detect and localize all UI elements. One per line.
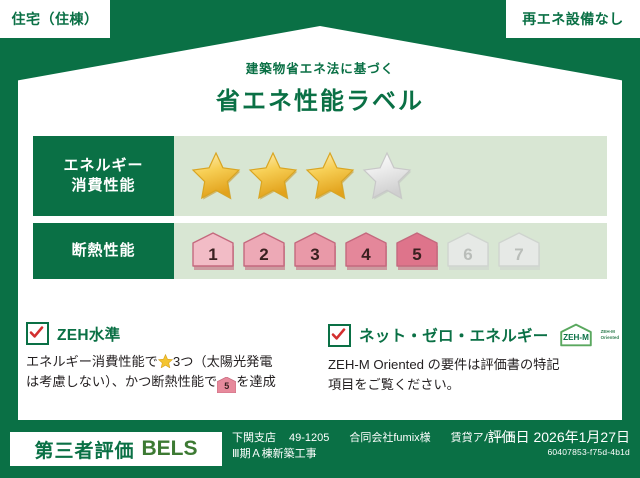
net-zero-body-line2: 項目をご覧ください。 bbox=[328, 377, 460, 392]
svg-text:ZEH-M: ZEH-M bbox=[563, 333, 589, 342]
footer-meta-line1: 下関支店49-1205合同会社fumix様賃貸アパート bbox=[232, 429, 516, 445]
title-block: 建築物省エネ法に基づく 省エネ性能ラベル bbox=[0, 58, 640, 116]
inline-chip-value: 5 bbox=[217, 377, 236, 396]
footer-meta: 下関支店49-1205合同会社fumix様賃貸アパート Ⅲ期Ａ棟新築工事 評価日… bbox=[232, 427, 640, 471]
footer-meta-line2: Ⅲ期Ａ棟新築工事 bbox=[232, 445, 317, 461]
energy-label-line1: エネルギー bbox=[63, 156, 143, 176]
net-zero-energy-header: ネット・ゼロ・エネルギー ZEH-M ZEH-M Oriented bbox=[328, 322, 616, 348]
title-subtitle: 建築物省エネ法に基づく bbox=[0, 58, 640, 77]
footer-number: 49-1205 bbox=[289, 432, 329, 444]
net-zero-energy-checkbox[interactable] bbox=[328, 324, 351, 347]
footer-date-value: 2026年1月27日 bbox=[533, 429, 630, 445]
insulation-chip-value: 3 bbox=[310, 245, 319, 271]
zeh-standard-body: エネルギー消費性能で 3つ（太陽光発電 は考慮しない）、かつ断熱性能で 5 を達… bbox=[26, 352, 314, 393]
check-icon bbox=[29, 325, 44, 340]
insulation-chip-inactive: 6 bbox=[445, 231, 491, 271]
insulation-chip-active: 4 bbox=[343, 231, 389, 271]
net-zero-energy-title: ネット・ゼロ・エネルギー bbox=[359, 324, 549, 346]
footer-bar: 第三者評価 BELS 下関支店49-1205合同会社fumix様賃貸アパート Ⅲ… bbox=[0, 420, 640, 478]
insulation-chip-value: 5 bbox=[412, 245, 421, 271]
energy-performance-row: エネルギー 消費性能 bbox=[33, 136, 607, 216]
building-type-tag-label: 住宅（住棟） bbox=[12, 9, 99, 29]
footer-evaluation-date: 評価日 2026年1月27日 bbox=[488, 427, 630, 447]
insulation-chip-active: 5 bbox=[394, 231, 440, 271]
renewable-energy-tag: 再エネ設備なし bbox=[506, 0, 640, 38]
performance-rows: エネルギー 消費性能 断熱性能 1234567 bbox=[33, 136, 607, 286]
inline-insulation-chip: 5 bbox=[217, 377, 236, 393]
star-filled-icon bbox=[247, 151, 299, 201]
zeh-body-part-b: 3つ（太陽光発電 bbox=[173, 354, 273, 369]
bels-logo-jp: 第三者評価 bbox=[34, 436, 134, 463]
insulation-level-scale: 1234567 bbox=[174, 223, 607, 279]
star-empty-icon bbox=[361, 151, 413, 201]
insulation-chip-value: 4 bbox=[361, 245, 370, 271]
star-rating bbox=[174, 136, 607, 216]
renewable-energy-tag-label: 再エネ設備なし bbox=[522, 9, 624, 29]
zeh-body-part-d: を達成 bbox=[236, 374, 276, 389]
zeh-standard-checkbox[interactable] bbox=[26, 322, 49, 345]
insulation-performance-label-cell: 断熱性能 bbox=[33, 223, 174, 279]
insulation-label: 断熱性能 bbox=[71, 241, 135, 261]
page-title: 省エネ性能ラベル bbox=[0, 81, 640, 116]
energy-label-line2: 消費性能 bbox=[71, 176, 135, 196]
bels-logo-en: BELS bbox=[142, 437, 198, 461]
zeh-m-caption-line1: ZEH-M bbox=[601, 329, 615, 334]
insulation-chip-active: 2 bbox=[241, 231, 287, 271]
insulation-chip-value: 6 bbox=[463, 245, 472, 271]
insulation-chip-inactive: 7 bbox=[496, 231, 542, 271]
star-filled-icon bbox=[304, 151, 356, 201]
criteria-section: ZEH水準 エネルギー消費性能で 3つ（太陽光発電 は考慮しない）、かつ断熱性能… bbox=[26, 322, 616, 396]
zeh-standard-header: ZEH水準 bbox=[26, 322, 314, 345]
inline-star-icon bbox=[158, 354, 173, 369]
net-zero-energy-body: ZEH-M Oriented の要件は評価書の特記 項目をご覧ください。 bbox=[328, 355, 616, 396]
insulation-chip-value: 1 bbox=[208, 245, 217, 271]
check-icon bbox=[331, 327, 346, 342]
zeh-m-logo-icon: ZEH-M bbox=[559, 322, 593, 348]
insulation-chip-value: 2 bbox=[259, 245, 268, 271]
footer-date-label: 評価日 bbox=[488, 429, 530, 445]
footer-project: Ⅲ期Ａ棟新築工事 bbox=[232, 448, 317, 460]
bels-logo: 第三者評価 BELS bbox=[10, 432, 222, 466]
insulation-performance-row: 断熱性能 1234567 bbox=[33, 223, 607, 279]
zeh-m-logo-caption: ZEH-M Oriented bbox=[601, 329, 620, 340]
net-zero-energy-block: ネット・ゼロ・エネルギー ZEH-M ZEH-M Oriented ZEH-M … bbox=[328, 322, 616, 396]
insulation-chip-active: 1 bbox=[190, 231, 236, 271]
energy-performance-label-cell: エネルギー 消費性能 bbox=[33, 136, 174, 216]
net-zero-body-line1: ZEH-M Oriented の要件は評価書の特記 bbox=[328, 357, 560, 372]
insulation-chip-active: 3 bbox=[292, 231, 338, 271]
zeh-body-part-a: エネルギー消費性能で bbox=[26, 354, 158, 369]
star-filled-icon bbox=[190, 151, 242, 201]
zeh-m-caption-line2: Oriented bbox=[601, 335, 620, 340]
footer-document-id: 60407853-f75d-4b1d bbox=[547, 447, 630, 457]
building-type-tag: 住宅（住棟） bbox=[0, 0, 110, 38]
footer-client: 合同会社fumix様 bbox=[349, 432, 430, 444]
zeh-standard-title: ZEH水準 bbox=[57, 323, 121, 345]
zeh-standard-block: ZEH水準 エネルギー消費性能で 3つ（太陽光発電 は考慮しない）、かつ断熱性能… bbox=[26, 322, 314, 396]
energy-performance-label: 住宅（住棟） 再エネ設備なし 建築物省エネ法に基づく 省エネ性能ラベル エネルギ… bbox=[0, 0, 640, 478]
zeh-body-part-c: は考慮しない）、かつ断熱性能で bbox=[26, 374, 217, 389]
insulation-chip-value: 7 bbox=[514, 245, 523, 271]
footer-branch: 下関支店 bbox=[232, 432, 276, 444]
